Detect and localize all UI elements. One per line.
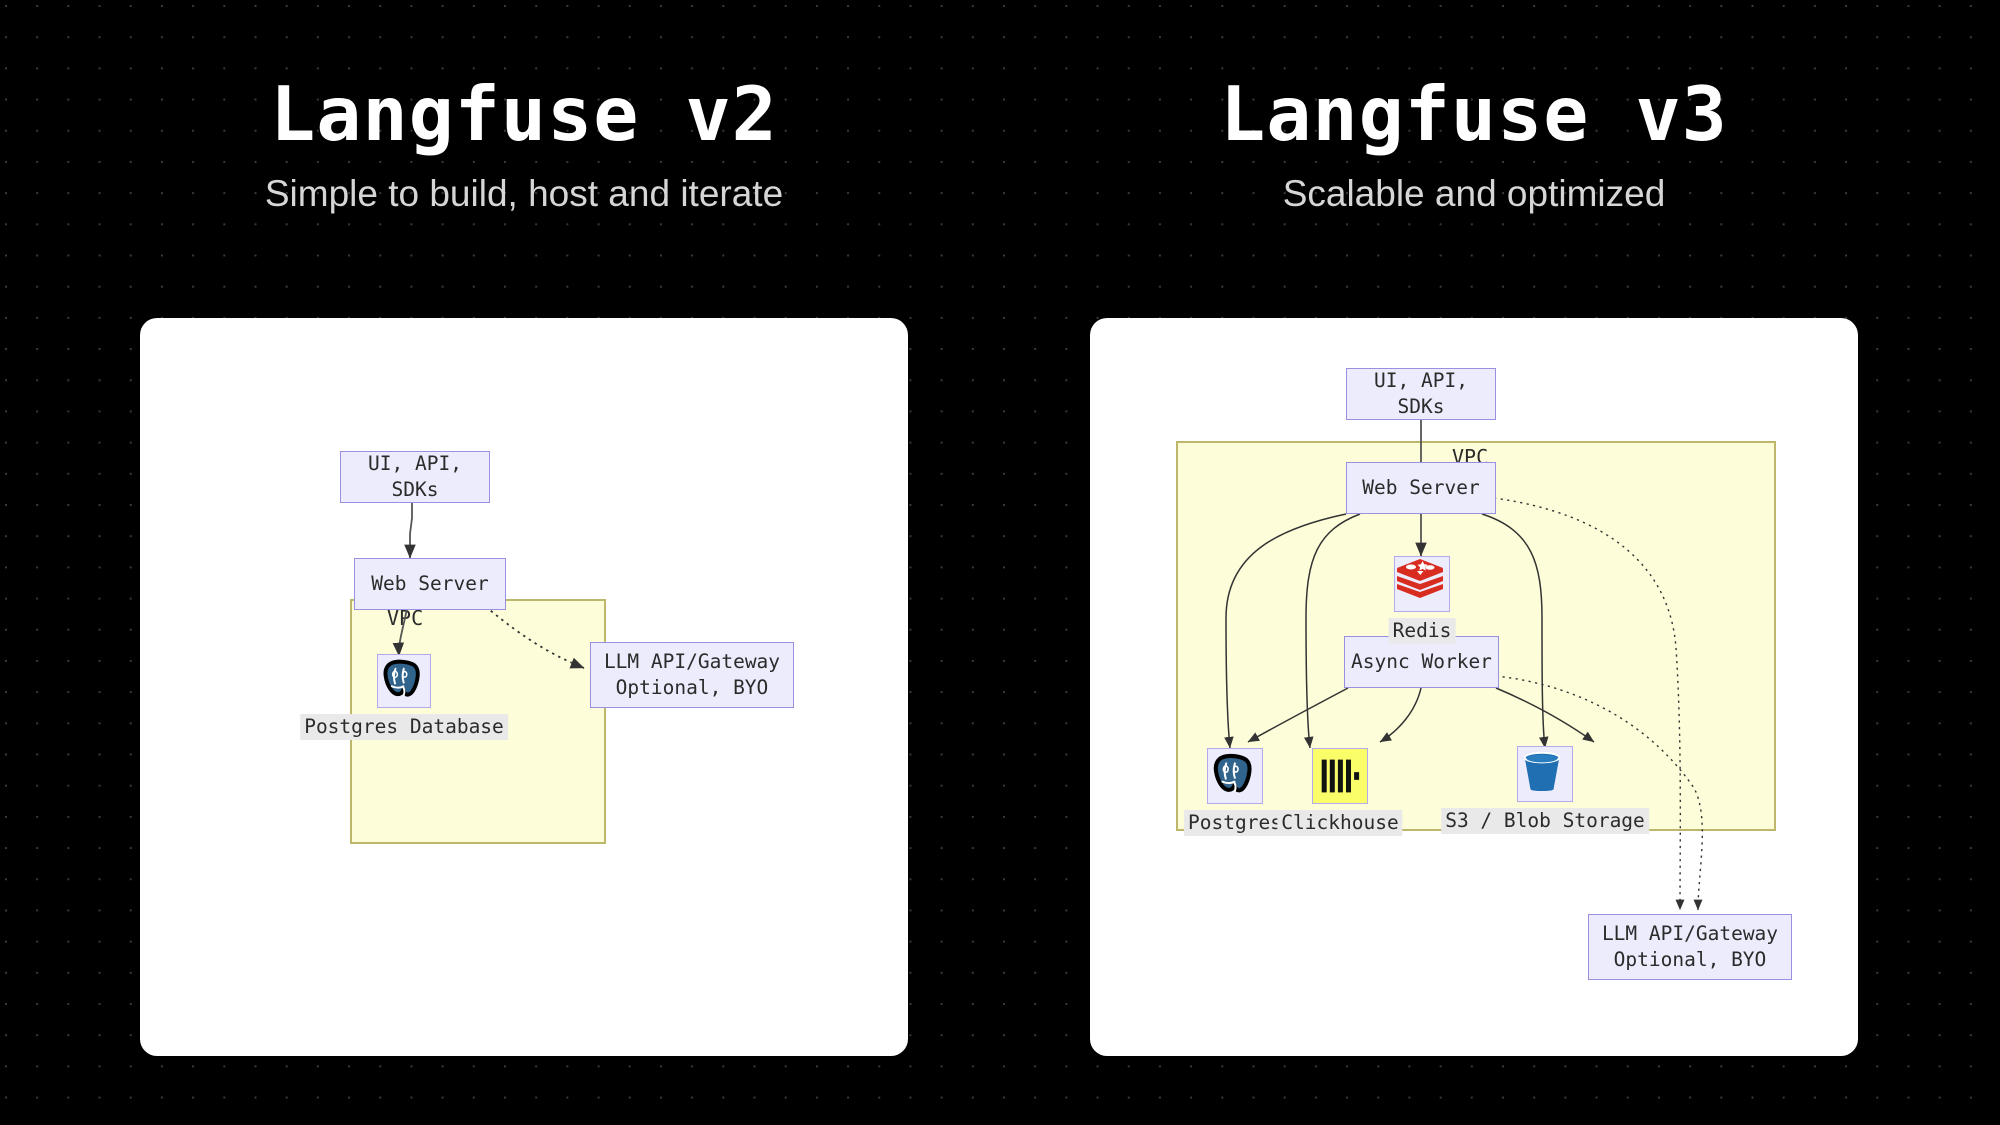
node-llm-gateway-v2[interactable]: LLM API/Gateway Optional, BYO — [590, 642, 794, 708]
node-llm-gateway-v3[interactable]: LLM API/Gateway Optional, BYO — [1588, 914, 1792, 980]
postgres-caption-v3: Postgres — [1184, 810, 1286, 836]
s3-caption: S3 / Blob Storage — [1441, 808, 1649, 834]
node-web-server-v3[interactable]: Web Server — [1346, 462, 1496, 514]
slide-canvas: Langfuse v2 Simple to build, host and it… — [0, 0, 2000, 1125]
page-title-v2: Langfuse v2 — [140, 77, 908, 152]
node-clients-v3[interactable]: UI, API, SDKs — [1346, 368, 1496, 420]
redis-icon-box[interactable] — [1394, 556, 1450, 612]
postgres-icon — [378, 655, 424, 701]
diagram-panel-v3: VPC — [1090, 318, 1858, 1056]
postgres-icon-box-v3[interactable] — [1207, 748, 1263, 804]
redis-icon — [1395, 557, 1445, 605]
clickhouse-icon-box[interactable] — [1312, 748, 1368, 804]
column-v2-header: Langfuse v2 Simple to build, host and it… — [140, 0, 908, 215]
architecture-diagram-v2: VPC UI, API, SDKs — [140, 318, 908, 1056]
column-v3-header: Langfuse v3 Scalable and optimized — [1090, 0, 1858, 215]
postgres-caption-v2: Postgres Database — [300, 714, 508, 740]
page-subtitle-v3: Scalable and optimized — [1090, 173, 1858, 215]
redis-caption: Redis — [1389, 618, 1456, 644]
node-web-server-v2[interactable]: Web Server — [354, 558, 506, 610]
node-clients-v2[interactable]: UI, API, SDKs — [340, 451, 490, 503]
s3-icon-box[interactable] — [1517, 746, 1573, 802]
clickhouse-icon — [1313, 749, 1367, 803]
page-subtitle-v2: Simple to build, host and iterate — [140, 173, 908, 215]
architecture-diagram-v3: VPC — [1090, 318, 1858, 1056]
s3-icon — [1518, 747, 1566, 795]
postgres-icon-box-v2[interactable] — [377, 654, 431, 708]
diagram-panel-v2: VPC UI, API, SDKs — [140, 318, 908, 1056]
postgres-icon — [1208, 749, 1256, 797]
clickhouse-caption: Clickhouse — [1277, 810, 1402, 836]
page-title-v3: Langfuse v3 — [1090, 77, 1858, 152]
